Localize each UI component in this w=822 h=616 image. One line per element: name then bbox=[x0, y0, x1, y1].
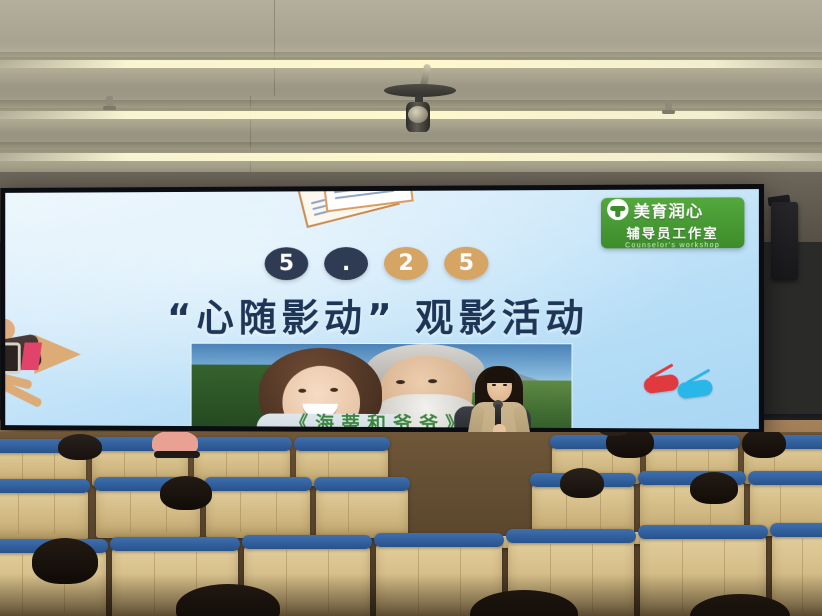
projected-slide: 美育润心 辅导员工作室 Counselor's workshop 5 . 2 5… bbox=[5, 189, 759, 429]
seat bbox=[316, 486, 408, 538]
ceiling-hook bbox=[106, 96, 113, 110]
3d-glasses-icon bbox=[644, 368, 722, 403]
ceiling bbox=[0, 0, 822, 178]
ceiling-spotlight bbox=[384, 50, 456, 120]
seat bbox=[206, 486, 310, 538]
projection-screen-frame: 美育润心 辅导员工作室 Counselor's workshop 5 . 2 5… bbox=[0, 184, 764, 434]
camera-icon bbox=[5, 342, 20, 374]
ceiling-hook bbox=[665, 100, 672, 114]
audience-head bbox=[690, 472, 738, 504]
date-badge: 2 bbox=[384, 247, 428, 280]
audience-head bbox=[742, 432, 786, 458]
slide-title: “心随影动” 观影活动 bbox=[5, 287, 759, 343]
date-badge-row: 5 . 2 5 bbox=[5, 246, 759, 280]
ceiling-light-strip bbox=[0, 153, 822, 161]
audience-head bbox=[58, 434, 102, 460]
audience-cap bbox=[152, 432, 198, 454]
auditorium-seating bbox=[0, 432, 822, 616]
date-badge: 5 bbox=[444, 247, 488, 280]
date-badge: . bbox=[324, 247, 368, 280]
audience-head bbox=[160, 476, 212, 510]
auditorium-photo: 美育润心 辅导员工作室 Counselor's workshop 5 . 2 5… bbox=[0, 0, 822, 616]
counselor-workshop-badge: 美育润心 辅导员工作室 Counselor's workshop bbox=[601, 197, 744, 248]
workshop-emblem-icon bbox=[607, 199, 628, 220]
audience-head bbox=[560, 468, 604, 498]
badge-line2: 辅导员工作室 bbox=[607, 222, 738, 242]
cartoon-photographer bbox=[5, 313, 89, 428]
badge-line1: 美育润心 bbox=[634, 197, 704, 222]
seat bbox=[0, 488, 88, 540]
wall-speaker bbox=[771, 202, 798, 280]
date-badge: 5 bbox=[265, 247, 309, 280]
